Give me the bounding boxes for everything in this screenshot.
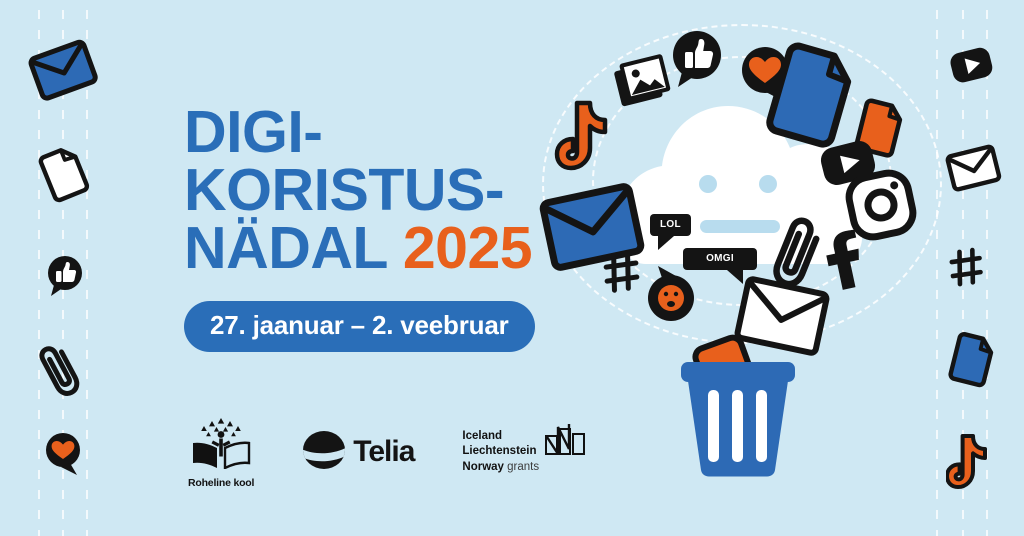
omgi-bubble-tail (727, 270, 743, 284)
envelope-blue-edge-icon (26, 37, 102, 108)
roheline-kool-icon (190, 415, 252, 474)
lol-bubble-tail (658, 236, 674, 250)
lol-bubble-text: LOL (650, 214, 691, 236)
roheline-kool-caption: Roheline kool (188, 477, 254, 489)
telia-wordmark: Telia (353, 435, 414, 469)
logo-telia: Telia (302, 429, 414, 476)
tiktok-note-icon (556, 98, 610, 172)
trash-bin-icon (675, 330, 801, 478)
illustration: LOL OMGI (520, 0, 990, 536)
omgi-bubble-text: OMGI (683, 248, 757, 270)
thumbs-up-bubble-edge-icon (46, 255, 84, 302)
heart-bubble-edge-icon (44, 432, 84, 481)
eea-line-3-bold: Norway (462, 461, 504, 473)
hashtag-edge-icon (947, 246, 987, 293)
headline-word-nadal: NÄDAL (184, 215, 387, 281)
tiktok-note-edge-icon (946, 432, 990, 495)
document-white-edge-icon (35, 142, 95, 211)
telia-mark-icon (302, 429, 346, 476)
lol-bubble: LOL (650, 214, 691, 250)
headline-year: 2025 (403, 215, 532, 281)
logo-roheline-kool: Roheline kool (188, 415, 254, 489)
date-badge: 27. jaanuar – 2. veebruar (184, 301, 535, 352)
paperclip-edge-icon (33, 335, 94, 408)
hashtag-icon (601, 250, 642, 295)
omgi-bubble: OMGI (683, 248, 757, 284)
poster-canvas: DIGI- KORISTUS- NÄDAL 2025 27. jaanuar –… (0, 0, 1024, 536)
thumbs-up-bubble-icon (670, 30, 724, 88)
